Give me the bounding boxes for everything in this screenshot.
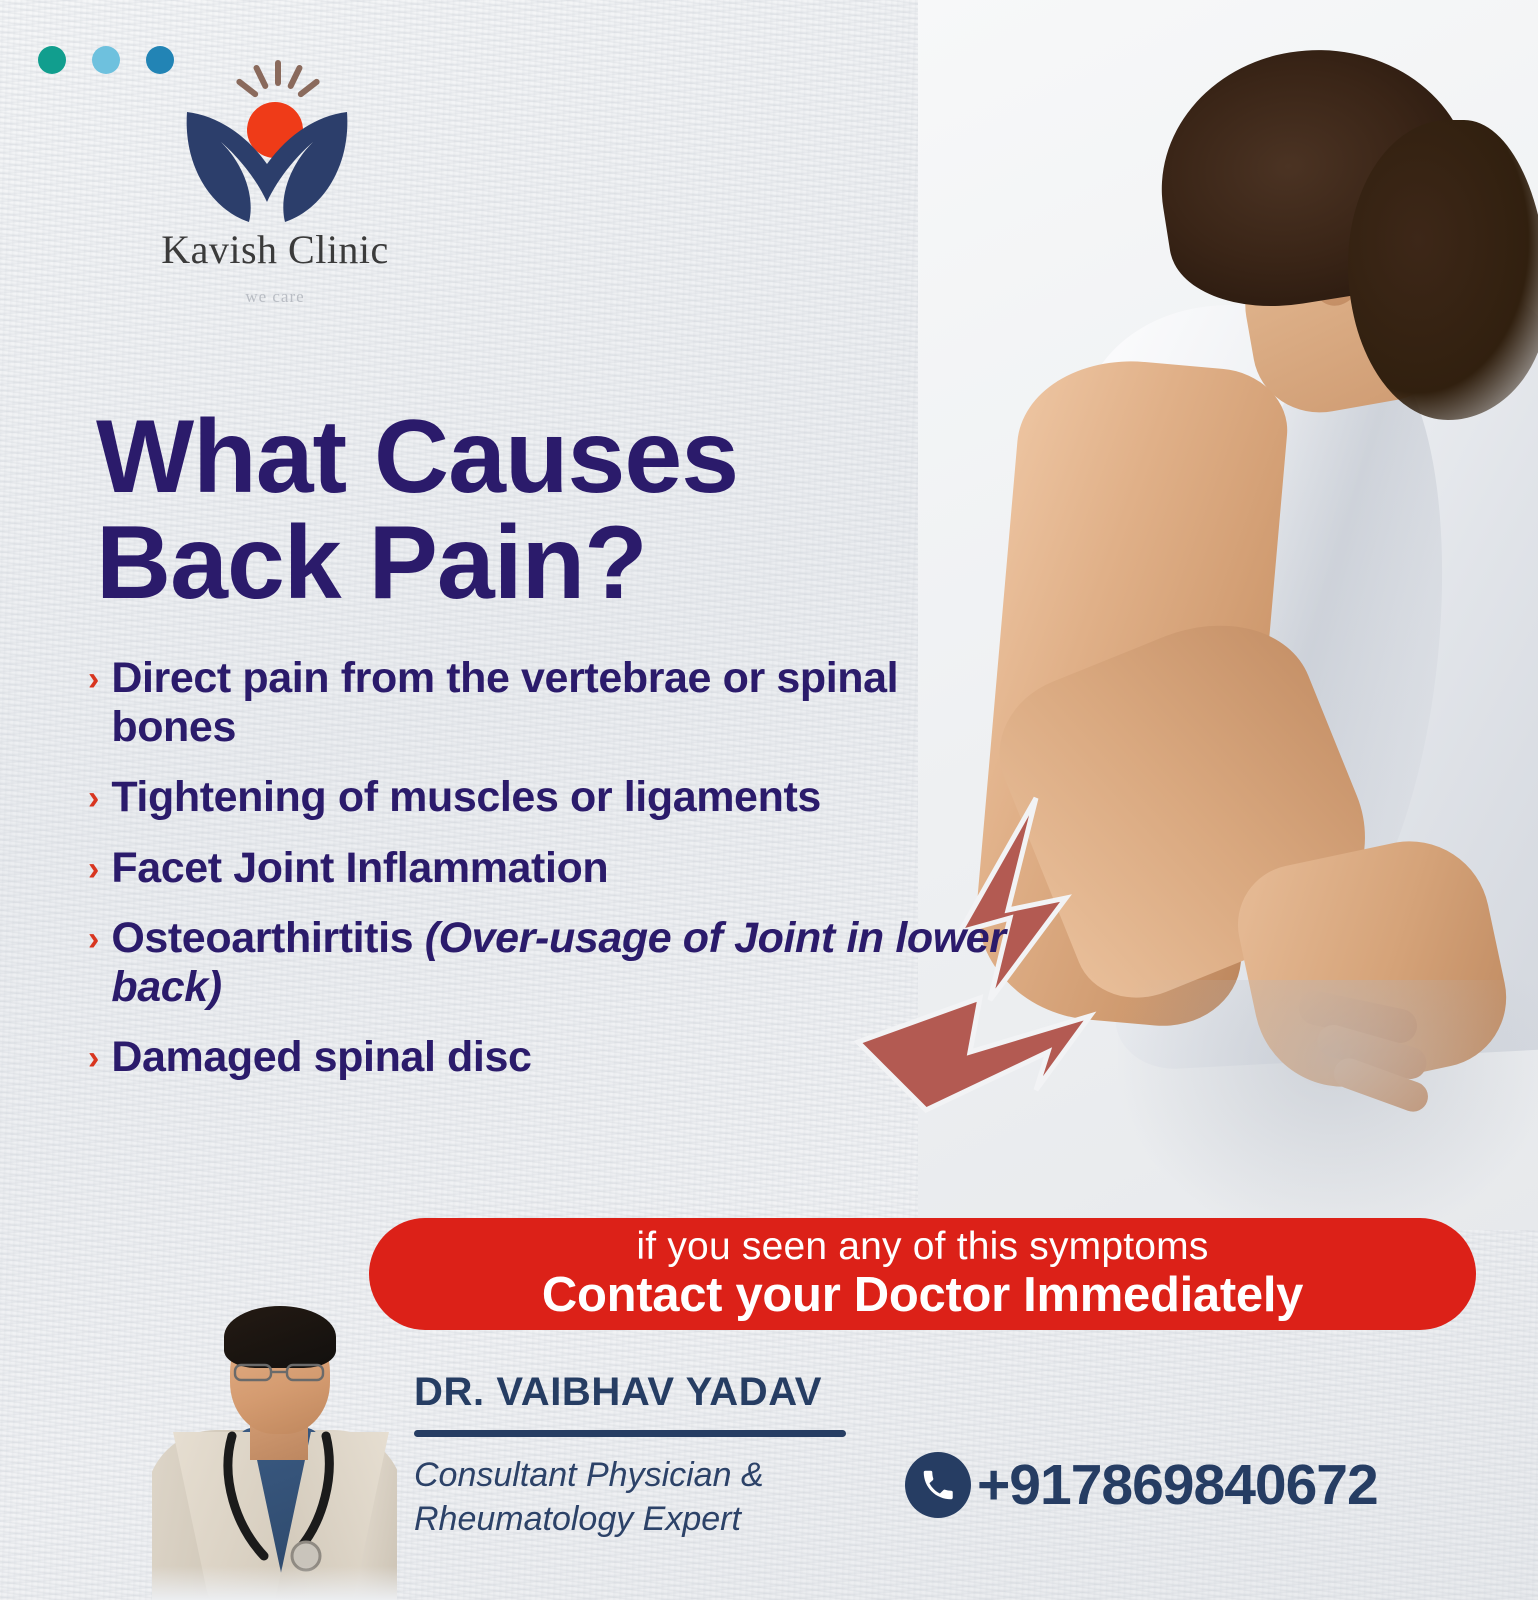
logo-clinic-name: Kavish Clinic — [120, 226, 430, 273]
photo-bottom-fade — [152, 1566, 397, 1600]
logo-mark — [175, 50, 375, 230]
chevron-right-icon: › — [88, 922, 99, 956]
list-item-text: Damaged spinal disc — [111, 1033, 531, 1082]
logo-ray — [297, 78, 321, 99]
list-item: › Osteoarthirtitis (Over-usage of Joint … — [88, 914, 1008, 1011]
headline-line-1: What Causes — [96, 404, 738, 510]
phone-icon — [905, 1452, 971, 1518]
chevron-right-icon: › — [88, 852, 99, 886]
phone-number: +917869840672 — [977, 1452, 1378, 1518]
logo-ray — [253, 64, 270, 90]
list-item-text: Facet Joint Inflammation — [111, 844, 608, 893]
poster-canvas: Kavish Clinic we care What Causes Back P… — [0, 0, 1538, 1600]
list-item-text: Direct pain from the vertebrae or spinal… — [111, 654, 1008, 751]
list-item: › Damaged spinal disc — [88, 1033, 1008, 1082]
chevron-right-icon: › — [88, 662, 99, 696]
brand-dot-sky — [92, 46, 120, 74]
doctor-title: Consultant Physician & Rheumatology Expe… — [414, 1454, 934, 1541]
contact-phone[interactable]: +917869840672 — [905, 1452, 1378, 1518]
logo-ray — [287, 64, 304, 90]
causes-list: › Direct pain from the vertebrae or spin… — [88, 654, 1008, 1104]
doctor-name: DR. VAIBHAV YADAV — [414, 1370, 934, 1415]
divider — [414, 1430, 846, 1437]
chevron-right-icon: › — [88, 1041, 99, 1075]
cta-headline: Contact your Doctor Immediately — [542, 1270, 1303, 1321]
brand-dot-teal — [38, 46, 66, 74]
doctor-credentials: DR. VAIBHAV YADAV Consultant Physician &… — [414, 1370, 934, 1541]
logo-ray — [275, 60, 281, 86]
cta-subtext: if you seen any of this symptoms — [636, 1227, 1208, 1266]
doctor-title-line-1: Consultant Physician & — [414, 1454, 934, 1498]
list-item: › Direct pain from the vertebrae or spin… — [88, 654, 1008, 751]
list-item-text-group: Osteoarthirtitis (Over-usage of Joint in… — [111, 914, 1008, 1011]
doctor-title-line-2: Rheumatology Expert — [414, 1498, 934, 1542]
cta-banner[interactable]: if you seen any of this symptoms Contact… — [369, 1218, 1476, 1330]
page-title: What Causes Back Pain? — [96, 404, 738, 616]
headline-line-2: Back Pain? — [96, 510, 738, 616]
phone-handset-glyph — [919, 1466, 957, 1504]
clinic-logo: Kavish Clinic we care — [120, 50, 430, 320]
list-item: › Facet Joint Inflammation — [88, 844, 1008, 893]
list-item: › Tightening of muscles or ligaments — [88, 773, 1008, 822]
doctor-portrait-photo — [152, 1280, 397, 1600]
logo-leaf-icon — [175, 102, 375, 232]
logo-ray — [235, 78, 259, 99]
chevron-right-icon: › — [88, 781, 99, 815]
logo-tagline: we care — [120, 287, 430, 307]
doctor-hair — [224, 1306, 336, 1368]
eyeglasses-icon — [232, 1362, 328, 1382]
list-item-text: Osteoarthirtitis — [111, 914, 424, 962]
stethoscope-icon — [210, 1430, 350, 1580]
list-item-text: Tightening of muscles or ligaments — [111, 773, 821, 822]
